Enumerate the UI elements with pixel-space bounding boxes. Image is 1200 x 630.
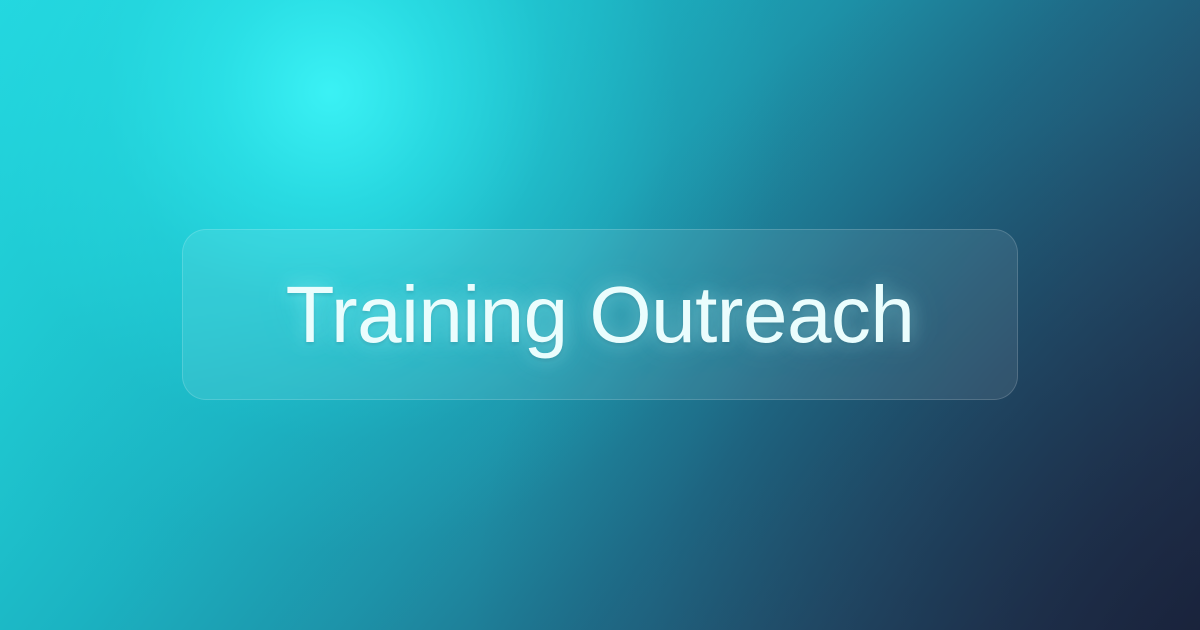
page-title: Training Outreach bbox=[286, 275, 915, 355]
og-image-canvas: Training Outreach bbox=[0, 0, 1200, 630]
title-card-panel: Training Outreach bbox=[182, 229, 1018, 400]
